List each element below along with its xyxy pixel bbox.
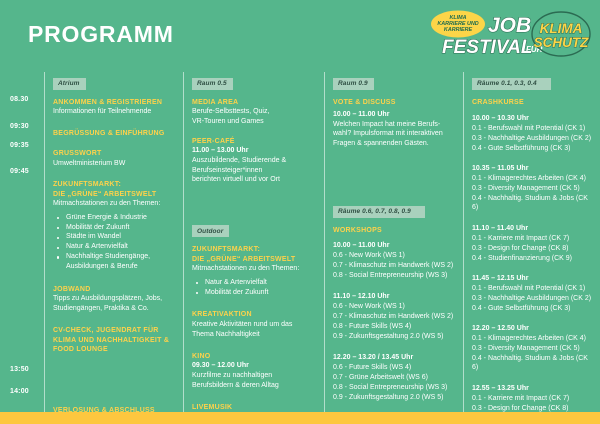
- room-tag-atrium: Atrium: [53, 78, 86, 90]
- slot-line: 0.1 - Karriere mit Impact (CK 7): [472, 234, 594, 243]
- block-text: Tipps zu Ausbildungsplätzen, Jobs, Studi…: [53, 294, 177, 313]
- bullet-item: Mobilität der Zukunft: [53, 223, 177, 233]
- time-label: 14:00: [10, 388, 29, 395]
- slot-line: 0.1 - Karriere mit Impact (CK 7): [472, 394, 594, 403]
- room-tag-raeume-010304: Räume 0.1, 0.3, 0.4: [472, 78, 551, 90]
- block-heading: VOTE & DISCUSS: [333, 98, 457, 107]
- svg-text:SCHUTZ: SCHUTZ: [534, 35, 589, 50]
- block-text: Kreative Aktivitäten rund um das Thema N…: [192, 320, 318, 339]
- page-header: PROGRAMM KLIMA KARRIERE UND KARRIERE JOB…: [0, 0, 600, 72]
- block-heading: CV-CHECK, JUGENDRAT FÜR KLIMA UND NACHHA…: [53, 326, 177, 354]
- block-bullets: Natur & Artenvielfalt Mobilität der Zuku…: [192, 278, 318, 298]
- program-block: ANKOMMEN & REGISTRIEREN Informationen fü…: [53, 98, 177, 117]
- block-heading: BEGRÜSSUNG & EINFÜHRUNG: [53, 129, 177, 138]
- slot-line: 0.6 - New Work (WS 1): [333, 302, 457, 311]
- block-text: Welchen Impact hat meine Berufs- wahl? I…: [333, 120, 457, 148]
- slot-time: 10.00 – 10.30 Uhr: [472, 114, 594, 123]
- logo-graphic: KLIMA KARRIERE UND KARRIERE JOB FESTIVAL…: [422, 8, 592, 60]
- slot-time: 11.10 – 11.40 Uhr: [472, 224, 594, 233]
- slot-line: 0.9 - Zukunftsgestaltung 2.0 (WS 5): [333, 332, 457, 341]
- workshops-heading: WORKSHOPS: [333, 226, 457, 235]
- time-label: 09:45: [10, 168, 29, 175]
- crashkurs-slot: 11.45 – 12.15 Uhr 0.1 - Berufswahl mit P…: [472, 274, 594, 313]
- slot-line: 0.4 - Gute Selbstführung (CK 3): [472, 304, 594, 313]
- slot-line: 0.1 - Berufswahl mit Potential (CK 1): [472, 124, 594, 133]
- room-tag-outdoor: Outdoor: [192, 225, 229, 237]
- slot-line: 0.7 - Klimaschutz im Handwerk (WS 2): [333, 312, 457, 321]
- slot-time: 10.00 – 11.00 Uhr: [333, 241, 457, 250]
- program-block: BEGRÜSSUNG & EINFÜHRUNG: [53, 129, 177, 138]
- block-heading: PEER-CAFÉ: [192, 137, 318, 146]
- time-label: 09:30: [10, 123, 29, 130]
- block-text: Auszubildende, Studierende & Berufseinst…: [192, 156, 318, 184]
- bullet-item: Nachhaltige Studiengänge, Ausbildungen &…: [53, 252, 177, 272]
- slot-time: 12.20 – 13.20 / 13.45 Uhr: [333, 353, 457, 362]
- block-text: Mitmachstationen zu den Themen:: [192, 264, 318, 273]
- svg-text:FESTIVAL: FESTIVAL: [442, 37, 532, 58]
- slot-line: 0.7 - Klimaschutz im Handwerk (WS 2): [333, 261, 457, 270]
- svg-text:JOB: JOB: [488, 14, 531, 37]
- crashkurs-slot: 10.35 – 11.05 Uhr 0.1 - Klimagerechtes A…: [472, 164, 594, 213]
- bullet-item: Natur & Artenvielfalt: [192, 278, 318, 288]
- block-heading: ZUKUNFTSMARKT: DIE „GRÜNE“ ARBEITSWELT: [53, 180, 177, 199]
- program-block: GRUSSWORT Umweltministerium BW: [53, 149, 177, 168]
- program-block: MEDIA AREA Berufe-Selbsttests, Quiz, VR-…: [192, 98, 318, 127]
- block-time: 10.00 – 11.00 Uhr: [333, 110, 457, 119]
- block-text: Berufe-Selbsttests, Quiz, VR-Touren und …: [192, 107, 318, 126]
- bullet-item: Grüne Energie & Industrie: [53, 213, 177, 223]
- block-heading: JOBWAND: [53, 285, 177, 294]
- column-raum-09: Raum 0.9 VOTE & DISCUSS 10.00 – 11.00 Uh…: [324, 72, 463, 412]
- program-grid: 08.30 09:30 09:35 09:45 13:50 14:00 Atri…: [0, 72, 600, 412]
- program-block: PEER-CAFÉ 11.00 – 13.00 Uhr Auszubildend…: [192, 137, 318, 185]
- program-block: JOBWAND Tipps zu Ausbildungsplätzen, Job…: [53, 285, 177, 314]
- svg-text:KARRIERE: KARRIERE: [444, 27, 473, 33]
- slot-line: 0.1 - Klimagerechtes Arbeiten (CK 4): [472, 174, 594, 183]
- workshop-slot: 10.00 – 11.00 Uhr 0.6 - New Work (WS 1) …: [333, 241, 457, 280]
- slot-line: 0.3 - Nachhaltige Ausbildungen (CK 2): [472, 294, 594, 303]
- block-time: 09.30 – 12.00 Uhr: [192, 361, 318, 370]
- slot-line: 0.3 - Nachhaltige Ausbildungen (CK 2): [472, 134, 594, 143]
- job-festival-logo: KLIMA KARRIERE UND KARRIERE JOB FESTIVAL…: [422, 8, 592, 60]
- block-text: Umweltministerium BW: [53, 159, 177, 168]
- program-block: VOTE & DISCUSS 10.00 – 11.00 Uhr Welchen…: [333, 98, 457, 149]
- slot-time: 10.35 – 11.05 Uhr: [472, 164, 594, 173]
- block-heading: MEDIA AREA: [192, 98, 318, 107]
- workshop-slot: 12.20 – 13.20 / 13.45 Uhr 0.6 - Future S…: [333, 353, 457, 402]
- column-atrium: Atrium ANKOMMEN & REGISTRIEREN Informati…: [44, 72, 183, 412]
- slot-line: 0.9 - Zukunftsgestaltung 2.0 (WS 5): [333, 393, 457, 402]
- room-tag-raum-05: Raum 0.5: [192, 78, 233, 90]
- slot-line: 0.4 - Nachhaltig. Studium & Jobs (CK 6): [472, 354, 594, 373]
- room-tag-raum-09: Raum 0.9: [333, 78, 374, 90]
- slot-line: 0.1 - Berufswahl mit Potential (CK 1): [472, 284, 594, 293]
- time-label: 09:35: [10, 142, 29, 149]
- program-block: ZUKUNFTSMARKT: DIE „GRÜNE“ ARBEITSWELT M…: [53, 180, 177, 271]
- column-raeume-010304: Räume 0.1, 0.3, 0.4 CRASHKURSE 10.00 – 1…: [463, 72, 600, 412]
- workshop-slot: 11.10 – 12.10 Uhr 0.6 - New Work (WS 1) …: [333, 292, 457, 341]
- bullet-item: Städte im Wandel: [53, 232, 177, 242]
- crashkurs-slot: 12.20 – 12.50 Uhr 0.1 - Klimagerechtes A…: [472, 324, 594, 373]
- crashkurse-heading: CRASHKURSE: [472, 98, 594, 107]
- crashkurs-slot: 11.10 – 11.40 Uhr 0.1 - Karriere mit Imp…: [472, 224, 594, 263]
- slot-time: 11.45 – 12.15 Uhr: [472, 274, 594, 283]
- slot-line: 0.7 - Grüne Arbeitswelt (WS 6): [333, 373, 457, 382]
- bottom-accent-bar: [0, 412, 600, 424]
- slot-line: 0.8 - Social Entrepreneurship (WS 3): [333, 383, 457, 392]
- bullet-item: Natur & Artenvielfalt: [53, 242, 177, 252]
- slot-line: 0.6 - Future Skills (WS 4): [333, 363, 457, 372]
- time-label: 08.30: [10, 96, 29, 103]
- slot-time: 12.55 – 13.25 Uhr: [472, 384, 594, 393]
- slot-line: 0.8 - Social Entrepreneurship (WS 3): [333, 271, 457, 280]
- page-title: PROGRAMM: [28, 21, 174, 48]
- slot-line: 0.8 - Future Skills (WS 4): [333, 322, 457, 331]
- block-heading: GRUSSWORT: [53, 149, 177, 158]
- slot-line: 0.4 - Nachhaltig. Studium & Jobs (CK 6): [472, 194, 594, 213]
- slot-line: 0.4 - Studienfinanzierung (CK 9): [472, 254, 594, 263]
- block-time: 11.00 – 13.00 Uhr: [192, 146, 318, 155]
- room-tag-raeume-0607080 9: Räume 0.6, 0.7, 0.8, 0.9: [333, 206, 425, 218]
- block-bullets: Grüne Energie & Industrie Mobilität der …: [53, 213, 177, 272]
- slot-line: 0.4 - Gute Selbstführung (CK 3): [472, 144, 594, 153]
- slot-line: 0.3 - Diversity Management (CK 5): [472, 344, 594, 353]
- crashkurs-slot: 10.00 – 10.30 Uhr 0.1 - Berufswahl mit P…: [472, 114, 594, 153]
- program-block: CV-CHECK, JUGENDRAT FÜR KLIMA UND NACHHA…: [53, 326, 177, 354]
- block-heading: KINO: [192, 352, 318, 361]
- block-heading: ZUKUNFTSMARKT: DIE „GRÜNE“ ARBEITSWELT: [192, 245, 318, 264]
- program-block: ZUKUNFTSMARKT: DIE „GRÜNE“ ARBEITSWELT M…: [192, 245, 318, 297]
- slot-line: 0.1 - Klimagerechtes Arbeiten (CK 4): [472, 334, 594, 343]
- slot-line: 0.3 - Design for Change (CK 8): [472, 244, 594, 253]
- slot-time: 11.10 – 12.10 Uhr: [333, 292, 457, 301]
- program-block: KINO 09.30 – 12.00 Uhr Kurzfilme zu nach…: [192, 352, 318, 390]
- slot-time: 12.20 – 12.50 Uhr: [472, 324, 594, 333]
- block-text: Kurzfilme zu nachhaltigen Berufsbildern …: [192, 371, 318, 390]
- block-heading: KREATIVAKTION: [192, 310, 318, 319]
- program-block: KREATIVAKTION Kreative Aktivitäten rund …: [192, 310, 318, 339]
- slot-line: 0.3 - Diversity Management (CK 5): [472, 184, 594, 193]
- bullet-item: Mobilität der Zukunft: [192, 288, 318, 298]
- time-label: 13:50: [10, 366, 29, 373]
- column-times: 08.30 09:30 09:35 09:45 13:50 14:00: [0, 72, 44, 412]
- svg-text:KLIMA: KLIMA: [540, 21, 583, 36]
- block-text: Informationen für Teilnehmende: [53, 107, 177, 116]
- block-heading: ANKOMMEN & REGISTRIEREN: [53, 98, 177, 107]
- slot-line: 0.6 - New Work (WS 1): [333, 251, 457, 260]
- column-raum-05: Raum 0.5 MEDIA AREA Berufe-Selbsttests, …: [183, 72, 324, 412]
- block-text: Mitmachstationen zu den Themen:: [53, 199, 177, 208]
